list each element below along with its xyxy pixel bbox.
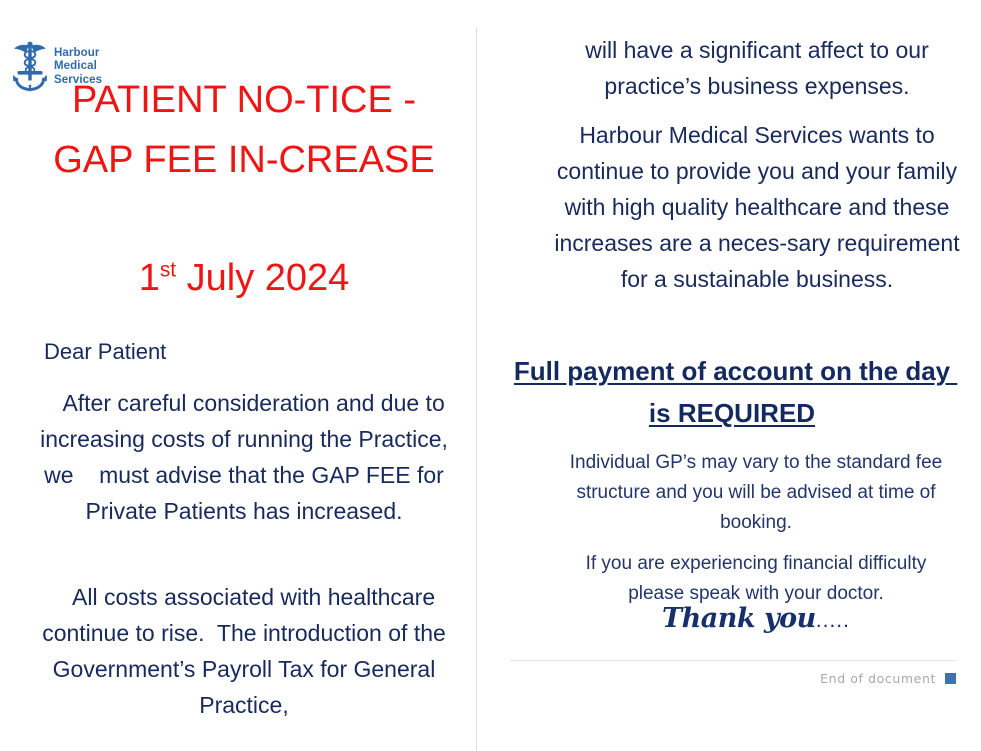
- footer-divider: [510, 660, 956, 661]
- date-ordinal-suffix: st: [160, 258, 176, 281]
- logo-line-1: Harbour: [54, 47, 102, 61]
- body-paragraph-4: Harbour Medical Services wants to contin…: [552, 118, 962, 298]
- page-title: PATIENT NO-TICE - GAP FEE IN-CREASE: [34, 70, 454, 190]
- date-month-year: July 2024: [176, 257, 349, 299]
- effective-date: 1st July 2024: [34, 258, 454, 300]
- end-of-document-label: End of document: [820, 671, 936, 686]
- blue-square-icon: [945, 673, 956, 684]
- payment-required-notice: Full payment of account on the day is RE…: [512, 350, 952, 435]
- document-page: Harbour Medical Services PATIENT NO-TICE…: [0, 0, 981, 751]
- left-column: Harbour Medical Services PATIENT NO-TICE…: [0, 0, 476, 751]
- gp-fee-variation-note: Individual GP’s may vary to the standard…: [560, 448, 952, 537]
- document-footer: End of document: [510, 671, 956, 686]
- date-day: 1: [139, 257, 160, 299]
- body-paragraph-3: will have a significant affect to our pr…: [552, 33, 962, 105]
- thank-you-signoff: Thank you.....: [560, 603, 952, 634]
- thank-you-text: Thank you: [662, 603, 816, 634]
- body-paragraph-1: After careful consideration and due to i…: [36, 386, 452, 530]
- salutation: Dear Patient: [44, 337, 166, 367]
- thank-you-ellipsis: .....: [816, 609, 850, 632]
- body-paragraph-2: All costs associated with healthcare con…: [36, 580, 452, 724]
- financial-difficulty-note: If you are experiencing financial diffic…: [560, 549, 952, 609]
